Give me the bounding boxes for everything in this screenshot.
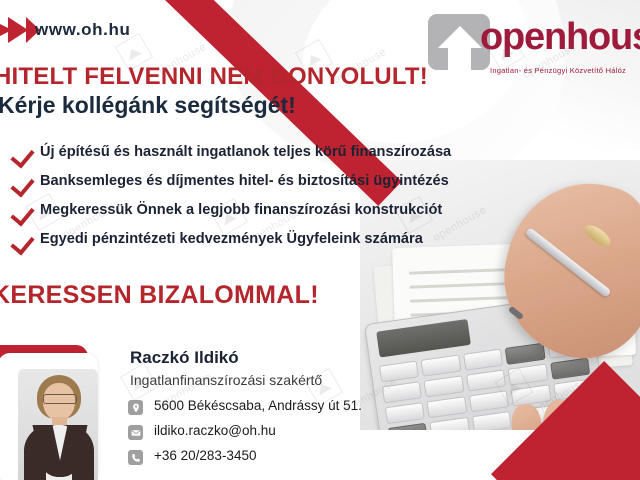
contact-phone[interactable]: +36 20/283-3450 xyxy=(154,448,256,463)
list-item: Egyedi pénzintézeti kedvezmények Ügyfele… xyxy=(8,231,478,259)
list-item-label: Új építésű és használt ingatlanok teljes… xyxy=(40,144,451,160)
contact-list: 5600 Békéscsaba, Andrássy út 51. ildiko.… xyxy=(128,398,448,473)
headline: HITELT FELVENNI NEM BONYOLULT! xyxy=(0,63,428,91)
contact-row-address: 5600 Békéscsaba, Andrássy út 51. xyxy=(128,398,448,420)
logo-wordmark: openhouse xyxy=(480,16,640,59)
photo-frame xyxy=(0,353,98,480)
subheadline: Kérje kollégánk segítségét! xyxy=(0,92,296,119)
agent-title: Ingatlanfinanszírozási szakértő xyxy=(130,372,322,388)
contact-row-email: ildiko.raczko@oh.hu xyxy=(128,423,448,445)
openhouse-logo[interactable]: openhouse Ingatlan- és Pénzügyi Közvetít… xyxy=(428,8,640,80)
contact-email[interactable]: ildiko.raczko@oh.hu xyxy=(154,423,276,438)
avatar xyxy=(0,345,98,480)
agent-portrait xyxy=(18,369,98,480)
benefits-list: Új építésű és használt ingatlanok teljes… xyxy=(8,144,478,260)
website-url[interactable]: www.oh.hu xyxy=(35,20,130,40)
flyer-canvas: www.oh.hu openhouse Ingatlan- és Pénzügy… xyxy=(0,0,640,480)
check-icon xyxy=(10,201,34,226)
phone-icon xyxy=(128,450,143,465)
list-item: Megkeressük Önnek a legjobb finanszírozá… xyxy=(8,202,478,230)
location-pin-icon xyxy=(128,400,143,415)
list-item-label: Egyedi pénzintézeti kedvezmények Ügyfele… xyxy=(40,231,423,247)
contact-address[interactable]: 5600 Békéscsaba, Andrássy út 51. xyxy=(154,398,362,413)
list-item: Új építésű és használt ingatlanok teljes… xyxy=(8,144,478,172)
glasses-icon xyxy=(43,394,77,404)
agent-name: Raczkó Ildikó xyxy=(130,348,239,368)
list-item: Banksemleges és díjmentes hitel- és bizt… xyxy=(8,173,478,201)
call-to-action: KERESSEN BIZALOMMAL! xyxy=(0,281,319,310)
check-icon xyxy=(10,172,34,197)
list-item-label: Megkeressük Önnek a legjobb finanszírozá… xyxy=(40,202,442,218)
check-icon xyxy=(10,143,34,168)
logo-tagline: Ingatlan- és Pénzügyi Közvetítő Hálóz xyxy=(490,66,626,75)
list-item-label: Banksemleges és díjmentes hitel- és bizt… xyxy=(40,173,449,189)
contact-row-phone: +36 20/283-3450 xyxy=(128,448,448,470)
check-icon xyxy=(10,230,34,255)
envelope-icon xyxy=(128,425,143,440)
